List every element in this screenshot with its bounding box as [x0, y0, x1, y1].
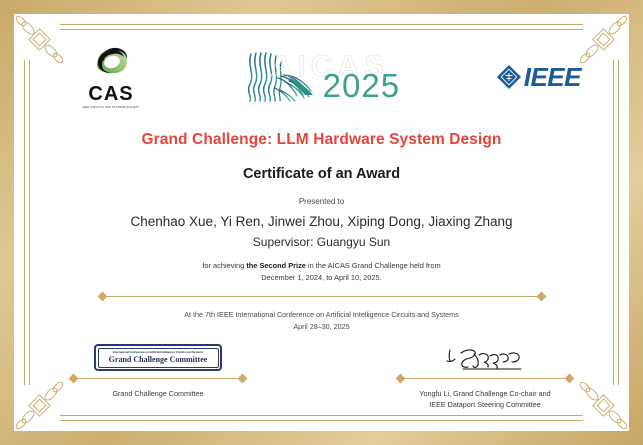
handwritten-signature	[443, 344, 527, 371]
conference-line2: April 28–30, 2025	[293, 322, 349, 331]
ieee-wordmark: IEEE	[524, 64, 581, 90]
divider-line	[400, 378, 570, 379]
signatory-block: Yongfu Li, Grand Challenge Co-chair and …	[373, 344, 597, 411]
achievement-prefix: for achieving	[202, 261, 246, 270]
border-rule-top-outer	[60, 24, 583, 25]
divider-diamond-left-icon	[97, 291, 107, 301]
divider-diamond-right-icon	[565, 374, 575, 384]
border-rule-right-outer	[618, 60, 619, 385]
divider-line	[73, 378, 243, 379]
main-divider	[102, 292, 542, 300]
conference-line1: At the 7th IEEE International Conference…	[184, 310, 458, 319]
conference-info: At the 7th IEEE International Conference…	[184, 309, 458, 332]
border-rule-left-outer	[24, 60, 25, 385]
achievement-suffix: in the AICAS Grand Challenge held from	[306, 261, 441, 270]
committee-divider	[73, 374, 243, 383]
achievement-dates: December 1, 2024, to April 10, 2025.	[261, 273, 381, 282]
signatory-caption-line2: IEEE Dataport Steering Committee	[429, 400, 540, 409]
supervisor-name: Supervisor: Guangyu Sun	[253, 235, 390, 249]
committee-stamp: International Conference on Artificial I…	[94, 344, 222, 371]
divider-diamond-right-icon	[238, 374, 248, 384]
signatory-caption-line1: Yongfu Li, Grand Challenge Co-chair and	[419, 389, 550, 398]
aicas-logo: AICAS	[245, 48, 400, 106]
divider-line	[102, 296, 542, 297]
ieee-logo: IEEE	[495, 63, 581, 91]
cas-leaf-logo-icon	[88, 45, 134, 83]
signatory-caption: Yongfu Li, Grand Challenge Co-chair and …	[419, 389, 550, 411]
cas-wordmark: CAS	[88, 84, 133, 104]
divider-diamond-left-icon	[69, 374, 79, 384]
divider-diamond-right-icon	[536, 291, 546, 301]
divider-diamond-left-icon	[396, 374, 406, 384]
certificate-content: CAS IEEE CIRCUITS AND SYSTEMS SOCIETY AI…	[40, 34, 603, 411]
signature-row: International Conference on Artificial I…	[40, 344, 603, 411]
page-title: Grand Challenge: LLM Hardware System Des…	[141, 131, 501, 149]
certificate: CAS IEEE CIRCUITS AND SYSTEMS SOCIETY AI…	[0, 0, 643, 445]
signature-icon	[443, 345, 527, 371]
border-rule-right-inner	[613, 60, 614, 385]
achievement-prize: the Second Prize	[246, 261, 306, 270]
border-rule-top-inner	[60, 29, 583, 30]
presented-to-label: Presented to	[299, 197, 344, 206]
cas-subtitle: IEEE CIRCUITS AND SYSTEMS SOCIETY	[83, 106, 140, 109]
committee-block: International Conference on Artificial I…	[46, 344, 270, 400]
aicas-year: 2025	[323, 69, 400, 102]
certificate-subtitle: Certificate of an Award	[243, 166, 400, 182]
certificate-paper: CAS IEEE CIRCUITS AND SYSTEMS SOCIETY AI…	[14, 14, 629, 431]
ieee-diamond-logo-icon	[495, 63, 523, 91]
recipient-names: Chenhao Xue, Yi Ren, Jinwei Zhou, Xiping…	[131, 214, 513, 229]
stamp-top-text: International Conference on Artificial I…	[113, 351, 203, 354]
stamp-main-text: Grand Challenge Committee	[109, 356, 208, 364]
border-rule-left-inner	[29, 60, 30, 385]
border-rule-bottom-inner	[60, 415, 583, 416]
logo-strip: CAS IEEE CIRCUITS AND SYSTEMS SOCIETY AI…	[40, 44, 603, 109]
cas-logo: CAS IEEE CIRCUITS AND SYSTEMS SOCIETY	[68, 45, 154, 109]
border-rule-bottom-outer	[60, 420, 583, 421]
achievement-statement: for achieving the Second Prize in the AI…	[202, 260, 440, 283]
committee-stamp-inner: International Conference on Artificial I…	[98, 348, 219, 368]
signatory-divider	[400, 374, 570, 383]
committee-caption: Grand Challenge Committee	[112, 389, 203, 400]
